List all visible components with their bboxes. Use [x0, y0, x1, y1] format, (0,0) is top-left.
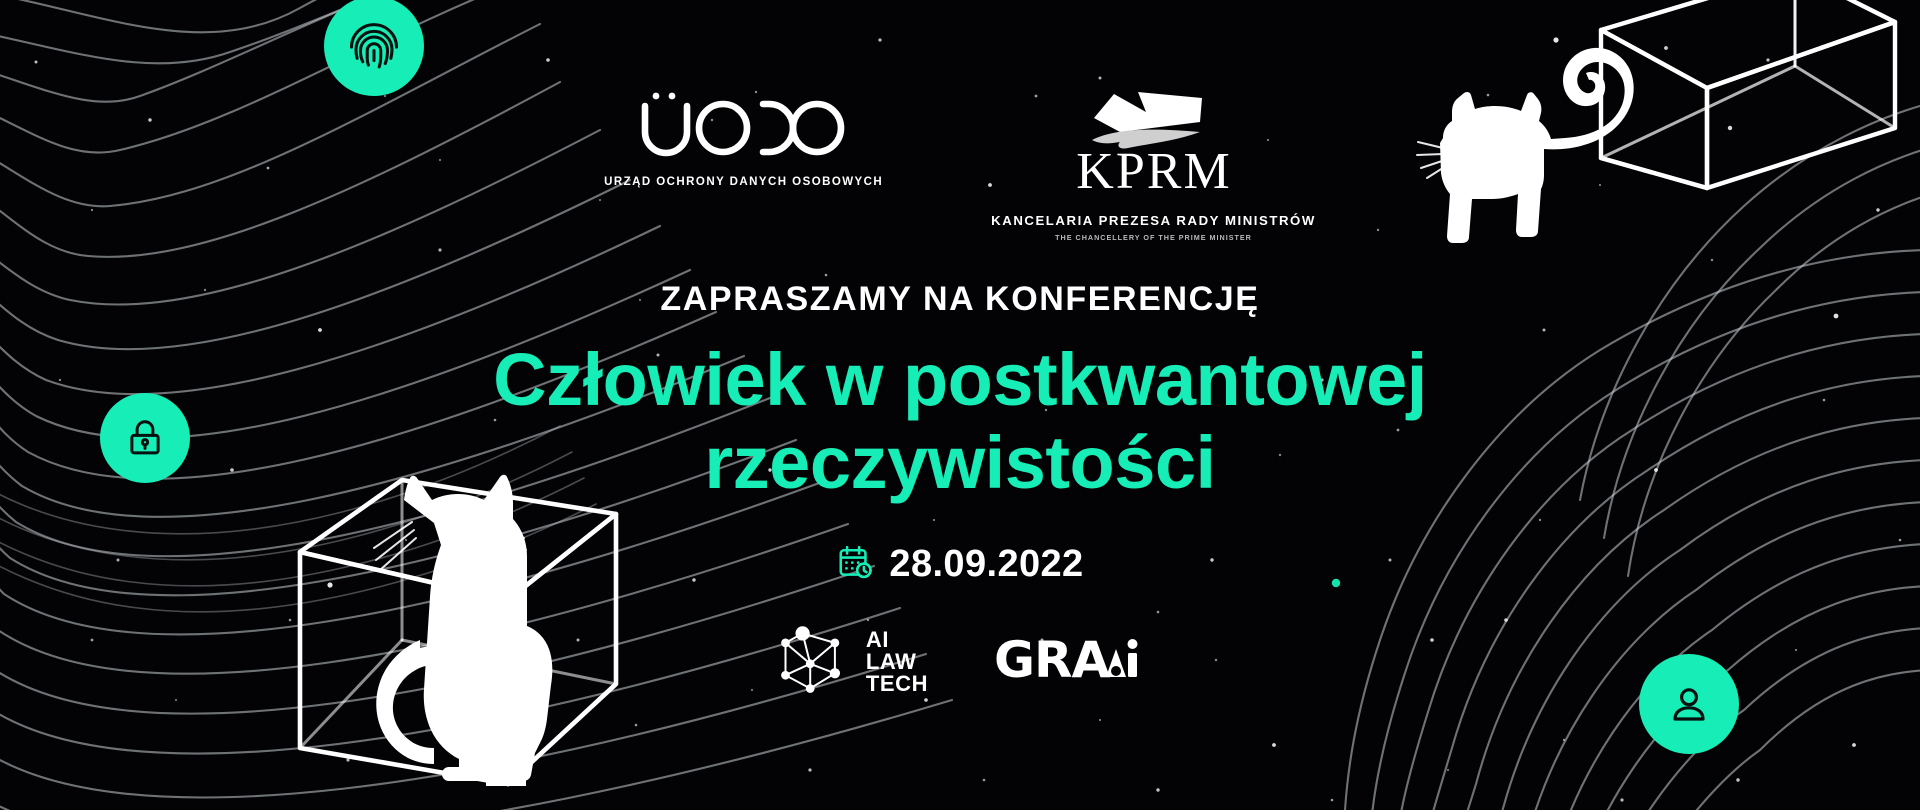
svg-text:GRA: GRA [994, 631, 1111, 689]
kprm-wordmark: KPRM [1054, 88, 1254, 209]
eyebrow-text: ZAPRASZAMY NA KONFERENCJĘ [660, 280, 1259, 319]
kprm-subtitle: KANCELARIA PREZESA RADY MINISTRÓW [991, 213, 1316, 228]
event-date-text: 28.09.2022 [889, 543, 1083, 586]
event-date: 28.09.2022 [836, 543, 1083, 586]
calendar-clock-icon [836, 543, 874, 586]
uodo-wordmark [639, 88, 849, 165]
uodo-logo: URZĄD OCHRONY DANYCH OSOBOWYCH [604, 88, 883, 188]
conference-banner: URZĄD OCHRONY DANYCH OSOBOWYCH KPRM KANC… [0, 0, 1920, 810]
banner-content: URZĄD OCHRONY DANYCH OSOBOWYCH KPRM KANC… [0, 0, 1920, 703]
kprm-logo: KPRM KANCELARIA PREZESA RADY MINISTRÓW T… [991, 88, 1316, 242]
kprm-subtitle-en: THE CHANCELLERY OF THE PRIME MINISTER [1055, 233, 1252, 242]
ailawtech-logo: AI LAW TECH [776, 622, 928, 703]
uodo-subtitle: URZĄD OCHRONY DANYCH OSOBOWYCH [604, 176, 883, 188]
ailawtech-wordmark: AI LAW TECH [866, 629, 928, 696]
organizer-logo-row: URZĄD OCHRONY DANYCH OSOBOWYCH KPRM KANC… [604, 88, 1316, 242]
title-line-1: Człowiek w postkwantowej [493, 339, 1427, 422]
partner-logo-row: AI LAW TECH GRA [776, 622, 1144, 703]
page-title: Człowiek w postkwantowej rzeczywistości [493, 339, 1427, 505]
title-line-2: rzeczywistości [493, 422, 1427, 505]
grai-logo: GRA [994, 627, 1144, 698]
svg-text:KPRM: KPRM [1076, 143, 1231, 200]
network-graph-icon [776, 622, 852, 703]
